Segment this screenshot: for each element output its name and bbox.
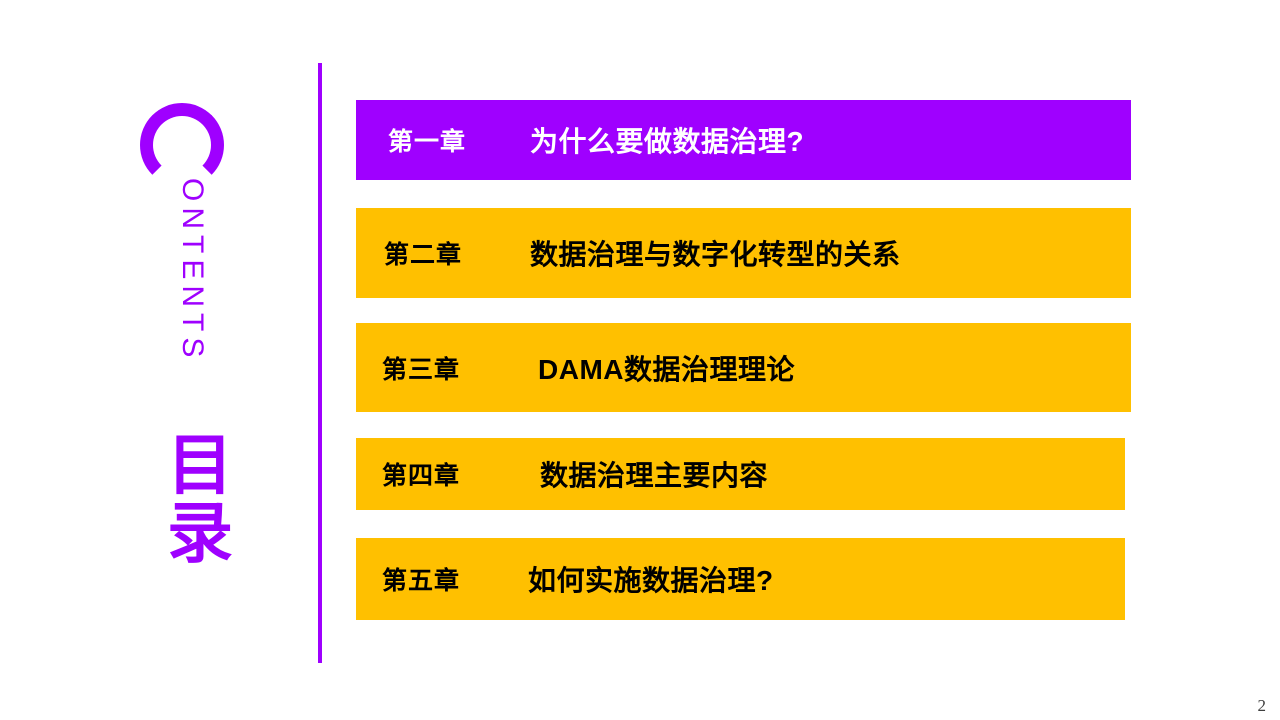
chapter-title-3: DAMA数据治理理论 — [538, 348, 795, 388]
chapter-label-1: 第一章 — [388, 122, 466, 158]
chapter-label-3: 第三章 — [382, 350, 460, 386]
slide-canvas: ONTENTS 目 录 第一章 为什么要做数据治理? 第二章 数据治理与数字化转… — [0, 0, 1280, 720]
contents-row-chapter-4[interactable]: 第四章 数据治理主要内容 — [356, 438, 1125, 510]
chapter-title-5: 如何实施数据治理? — [528, 559, 774, 599]
chapter-title-2: 数据治理与数字化转型的关系 — [530, 233, 901, 273]
contents-row-chapter-1[interactable]: 第一章 为什么要做数据治理? — [356, 100, 1131, 180]
chapter-label-2: 第二章 — [384, 235, 462, 271]
page-number: 2 — [1258, 696, 1267, 716]
vertical-divider — [318, 63, 322, 663]
contents-row-chapter-2[interactable]: 第二章 数据治理与数字化转型的关系 — [356, 208, 1131, 298]
page-title-char-1: 目 — [140, 432, 260, 500]
page-title: 目 录 — [140, 432, 260, 568]
contents-vertical-label: ONTENTS — [155, 178, 207, 408]
chapter-title-4: 数据治理主要内容 — [540, 454, 768, 494]
chapter-label-5: 第五章 — [382, 561, 460, 597]
letter-c-arc-icon — [140, 103, 224, 187]
contents-row-chapter-5[interactable]: 第五章 如何实施数据治理? — [356, 538, 1125, 620]
contents-row-chapter-3[interactable]: 第三章 DAMA数据治理理论 — [356, 323, 1131, 412]
page-title-char-2: 录 — [140, 500, 260, 568]
contents-decoration-column: ONTENTS 目 录 — [0, 0, 300, 720]
chapter-title-1: 为什么要做数据治理? — [530, 120, 804, 160]
chapter-label-4: 第四章 — [382, 456, 460, 492]
